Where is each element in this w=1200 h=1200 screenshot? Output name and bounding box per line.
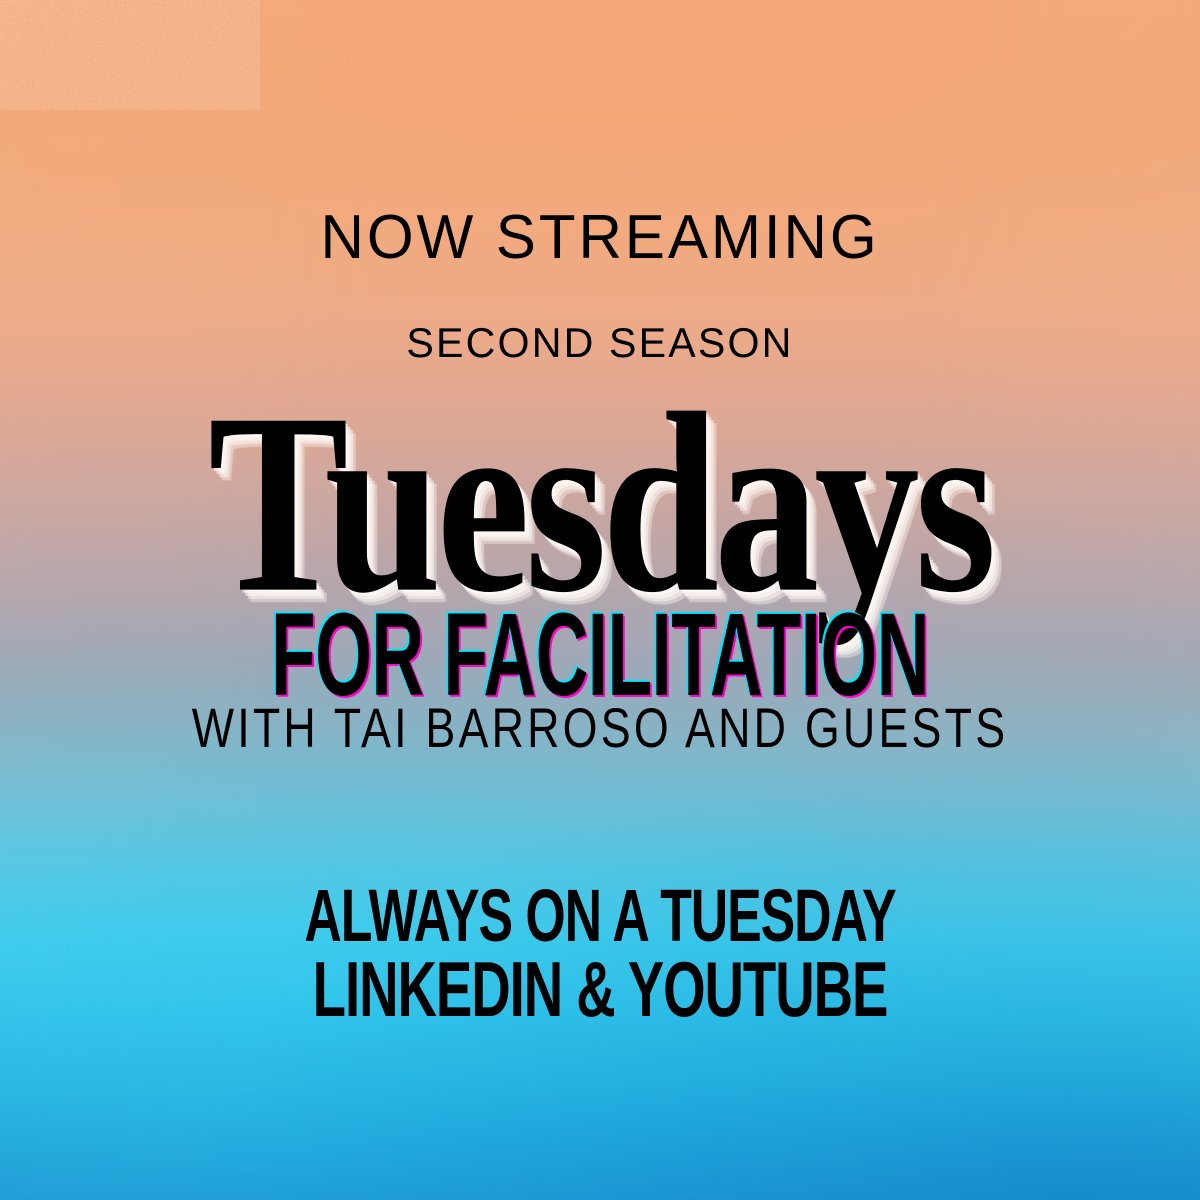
poster-canvas: NOW STREAMING SECOND SEASON Tuesdays FOR…	[0, 0, 1200, 1200]
headline-tuesdays: Tuesdays	[208, 392, 991, 614]
cta-block: ALWAYS ON A TUESDAY LINKEDIN & YOUTUBE	[0, 880, 1200, 1027]
eyebrow-second-season: SECOND SEASON	[12, 322, 1188, 364]
eyebrow-now-streaming: NOW STREAMING	[18, 207, 1182, 269]
cta-platforms-line: LINKEDIN & YOUTUBE	[180, 952, 1020, 1028]
cta-schedule-line: ALWAYS ON A TUESDAY	[180, 880, 1020, 952]
poster-content: NOW STREAMING SECOND SEASON Tuesdays FOR…	[0, 0, 1200, 1200]
headline-container: Tuesdays	[0, 392, 1200, 612]
credits-host-line: WITH TAI BARROSO AND GUESTS	[120, 700, 1080, 756]
